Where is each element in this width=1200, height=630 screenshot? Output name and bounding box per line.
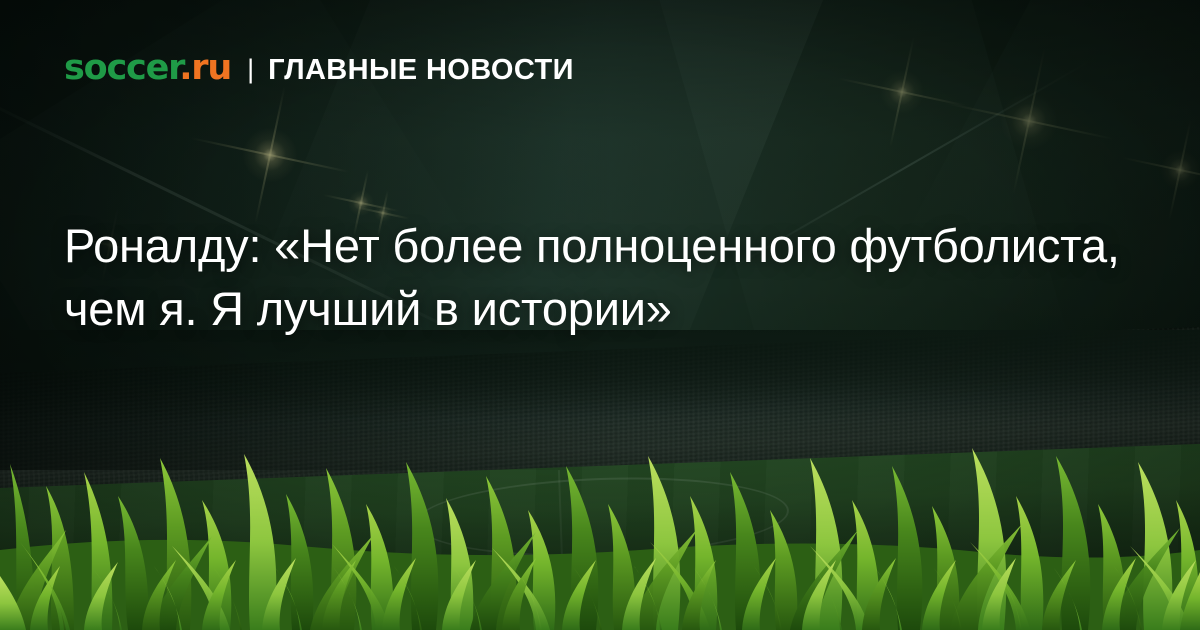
logo-text-soccer: soccer [64, 48, 179, 88]
brand-header[interactable]: soccer.ru | ГЛАВНЫЕ НОВОСТИ [64, 51, 574, 86]
news-share-card: soccer.ru | ГЛАВНЫЕ НОВОСТИ Роналду: «Не… [0, 0, 1200, 630]
section-kicker: ГЛАВНЫЕ НОВОСТИ [268, 56, 574, 85]
header-divider: | [247, 56, 254, 83]
logo-text-ru: .ru [179, 48, 231, 88]
page-title: Роналду: «Нет более полноценного футболи… [64, 214, 1124, 340]
soccer-ru-logo[interactable]: soccer.ru [64, 51, 231, 86]
